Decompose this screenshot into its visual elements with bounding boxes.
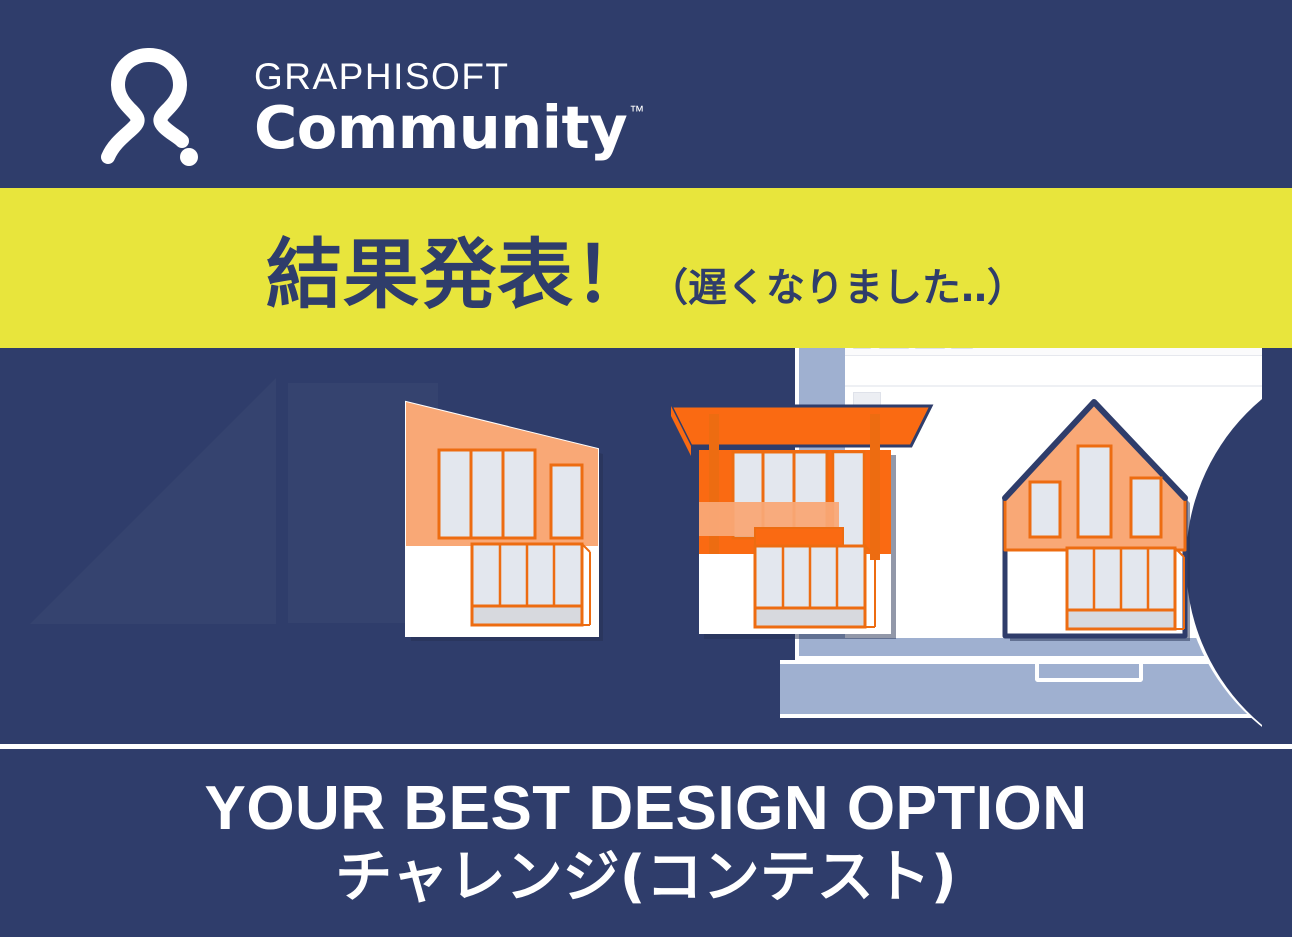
announcement-subtext: （遅くなりました‥） bbox=[649, 257, 1026, 313]
brand-graphisoft: GRAPHISOFT bbox=[254, 58, 644, 95]
promo-banner: GRAPHISOFT Community ™ 結果発表！ （遅くなりました‥） … bbox=[0, 0, 1292, 937]
trademark-symbol: ™ bbox=[629, 104, 644, 119]
announcement-banner: 結果発表！ （遅くなりました‥） bbox=[0, 188, 1292, 348]
footer-title-block: YOUR BEST DESIGN OPTION チャレンジ(コンテスト) bbox=[0, 749, 1292, 937]
announcement-headline: 結果発表！ bbox=[266, 213, 651, 323]
footer-title-japanese: チャレンジ(コンテスト) bbox=[335, 845, 957, 911]
house1-lower-window-band bbox=[472, 544, 590, 625]
house2-lower-window-band bbox=[755, 546, 875, 627]
background-triangle-shape bbox=[30, 378, 276, 624]
graphisoft-community-logo[interactable]: GRAPHISOFT Community ™ bbox=[96, 45, 644, 170]
navy-right-fill bbox=[1262, 330, 1292, 750]
person-icon bbox=[96, 45, 202, 170]
house-flat-roof bbox=[663, 392, 943, 642]
footer-title-english: YOUR BEST DESIGN OPTION bbox=[204, 776, 1087, 841]
brand-community: Community bbox=[254, 98, 627, 157]
house3-lower-window-band bbox=[1067, 548, 1184, 629]
screen-divider bbox=[845, 386, 1292, 387]
laptop-notch bbox=[1035, 664, 1143, 682]
house-slanted-roof bbox=[396, 386, 611, 642]
house-gable-roof bbox=[989, 388, 1207, 646]
screen-toolbar-row-2 bbox=[845, 356, 1292, 386]
